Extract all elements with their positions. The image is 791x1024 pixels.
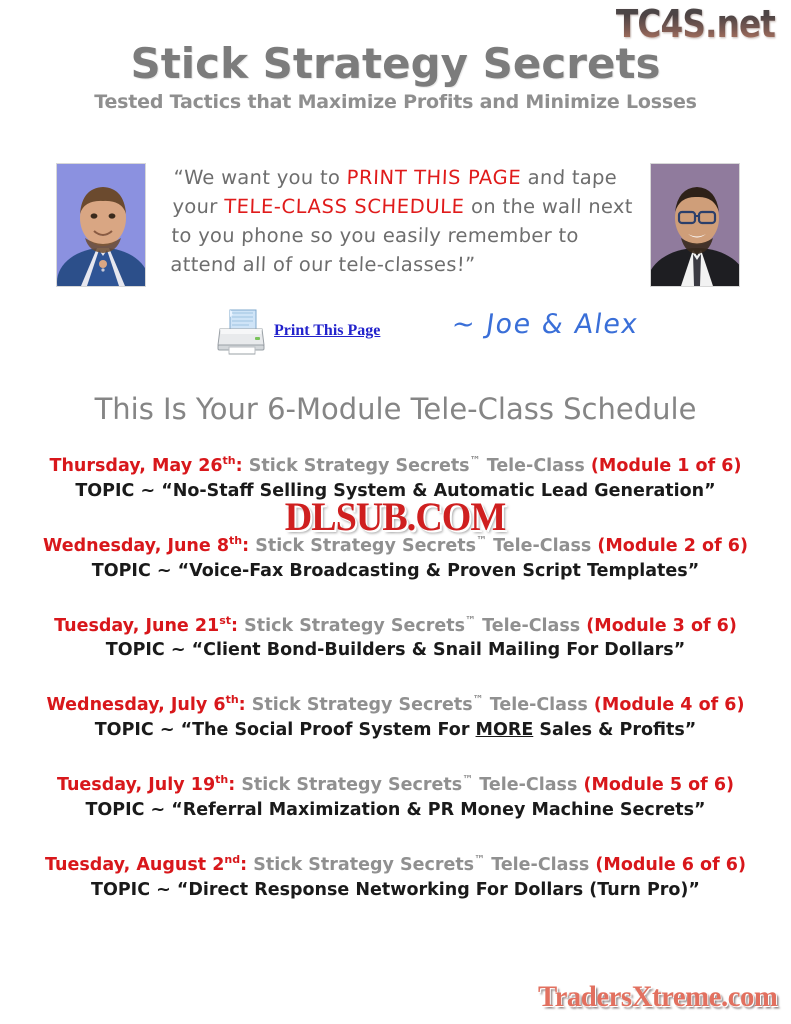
trademark-symbol: ™ [462, 773, 473, 786]
avatar-alex [650, 163, 740, 287]
quote-band: “We want you to PRINT THIS PAGE and tape… [0, 155, 791, 295]
module-class-suffix: Tele-Class [473, 775, 577, 795]
module-row: Wednesday, July 6th: Stick Strategy Secr… [0, 689, 791, 742]
module-class-suffix: Tele-Class [476, 615, 580, 635]
print-this-page-link[interactable]: Print This Page [274, 322, 380, 340]
quote-text: “We want you to PRINT THIS PAGE and tape… [170, 163, 644, 279]
module-date: Tuesday, June 21 [54, 615, 219, 635]
topic-text: “Voice-Fax Broadcasting & Proven Script … [178, 561, 700, 581]
module-topic: TOPIC ~ “Referral Maximization & PR Mone… [0, 798, 791, 822]
alex-headshot-icon [651, 164, 739, 286]
module-headline: Wednesday, June 8th: Stick Strategy Secr… [0, 530, 791, 557]
printer-icon[interactable] [216, 307, 268, 355]
print-this-page-button[interactable]: Print This Page [216, 307, 380, 355]
module-topic: TOPIC ~ “Voice-Fax Broadcasting & Proven… [0, 559, 791, 583]
module-number-label: (Module 5 of 6) [583, 775, 734, 795]
module-headline: Tuesday, June 21st: Stick Strategy Secre… [0, 610, 791, 637]
module-number-label: (Module 6 of 6) [595, 855, 746, 875]
topic-prefix: TOPIC ~ [75, 481, 161, 501]
topic-text: “Direct Response Networking For Dollars … [177, 880, 700, 900]
module-date: Wednesday, June 8 [43, 536, 229, 556]
module-row: Wednesday, June 8th: Stick Strategy Secr… [0, 530, 791, 583]
topic-prefix: TOPIC ~ [95, 720, 181, 740]
module-date-suffix: th [229, 534, 242, 547]
masthead: Stick Strategy Secrets Tested Tactics th… [0, 42, 791, 113]
schedule-heading: This Is Your 6-Module Tele-Class Schedul… [0, 392, 791, 426]
avatar-joe [56, 163, 146, 287]
module-date: Wednesday, July 6 [47, 695, 226, 715]
topic-text-post: Sales & Profits” [533, 720, 696, 740]
joe-headshot-icon [57, 164, 145, 286]
trademark-symbol: ™ [470, 454, 481, 467]
page-subtitle: Tested Tactics that Maximize Profits and… [0, 91, 791, 113]
module-class-suffix: Tele-Class [485, 855, 589, 875]
module-row: Thursday, May 26th: Stick Strategy Secre… [0, 450, 791, 503]
module-row: Tuesday, June 21st: Stick Strategy Secre… [0, 610, 791, 663]
trademark-symbol: ™ [476, 534, 487, 547]
topic-text: “The Social Proof System For [181, 720, 476, 740]
topic-text: “Referral Maximization & PR Money Machin… [171, 800, 705, 820]
trademark-symbol: ™ [474, 853, 485, 866]
module-topic: TOPIC ~ “No-Staff Selling System & Autom… [0, 479, 791, 503]
module-class-name: Stick Strategy Secrets [253, 855, 474, 875]
tradersxtreme-footer-logo: TradersXtreme.com [538, 980, 777, 1014]
topic-prefix: TOPIC ~ [106, 640, 192, 660]
module-schedule-list: Thursday, May 26th: Stick Strategy Secre… [0, 450, 791, 929]
module-class-name: Stick Strategy Secrets [241, 775, 462, 795]
module-date-suffix: nd [224, 853, 240, 866]
trademark-symbol: ™ [465, 614, 476, 627]
module-class-name: Stick Strategy Secrets [244, 615, 465, 635]
module-class-name: Stick Strategy Secrets [255, 536, 476, 556]
module-number-label: (Module 3 of 6) [586, 615, 737, 635]
module-date-suffix: th [215, 773, 228, 786]
module-class-name: Stick Strategy Secrets [249, 456, 470, 476]
module-headline: Thursday, May 26th: Stick Strategy Secre… [0, 450, 791, 477]
module-number-label: (Module 2 of 6) [597, 536, 748, 556]
module-date-suffix: st [219, 614, 231, 627]
quote-highlight-schedule: TELE-CLASS SCHEDULE [224, 195, 465, 218]
quote-highlight-print: PRINT THIS PAGE [346, 166, 521, 189]
topic-prefix: TOPIC ~ [85, 800, 171, 820]
module-topic: TOPIC ~ “The Social Proof System For MOR… [0, 718, 791, 742]
module-topic: TOPIC ~ “Client Bond-Builders & Snail Ma… [0, 638, 791, 662]
topic-text: “Client Bond-Builders & Snail Mailing Fo… [192, 640, 686, 660]
module-class-suffix: Tele-Class [484, 695, 588, 715]
module-date: Thursday, May 26 [50, 456, 223, 476]
topic-prefix: TOPIC ~ [92, 561, 178, 581]
module-class-suffix: Tele-Class [487, 536, 591, 556]
module-headline: Tuesday, July 19th: Stick Strategy Secre… [0, 769, 791, 796]
page-title: Stick Strategy Secrets [0, 42, 791, 86]
module-date-suffix: th [226, 693, 239, 706]
module-headline: Tuesday, August 2nd: Stick Strategy Secr… [0, 849, 791, 876]
module-topic: TOPIC ~ “Direct Response Networking For … [0, 878, 791, 902]
topic-prefix: TOPIC ~ [91, 880, 177, 900]
trademark-symbol: ™ [473, 693, 484, 706]
print-row: Print This Page ~ Joe & Alex [0, 305, 791, 367]
topic-emphasis: MORE [476, 720, 534, 740]
module-class-name: Stick Strategy Secrets [252, 695, 473, 715]
topic-text: “No-Staff Selling System & Automatic Lea… [161, 481, 715, 501]
module-row: Tuesday, August 2nd: Stick Strategy Secr… [0, 849, 791, 902]
signature-joe-alex: ~ Joe & Alex [450, 309, 641, 340]
module-class-suffix: Tele-Class [481, 456, 585, 476]
module-date: Tuesday, July 19 [57, 775, 215, 795]
quote-open: “We want you to [173, 166, 347, 189]
module-number-label: (Module 1 of 6) [591, 456, 742, 476]
module-headline: Wednesday, July 6th: Stick Strategy Secr… [0, 689, 791, 716]
module-date-suffix: th [223, 454, 236, 467]
module-date: Tuesday, August 2 [45, 855, 224, 875]
module-row: Tuesday, July 19th: Stick Strategy Secre… [0, 769, 791, 822]
module-number-label: (Module 4 of 6) [594, 695, 745, 715]
